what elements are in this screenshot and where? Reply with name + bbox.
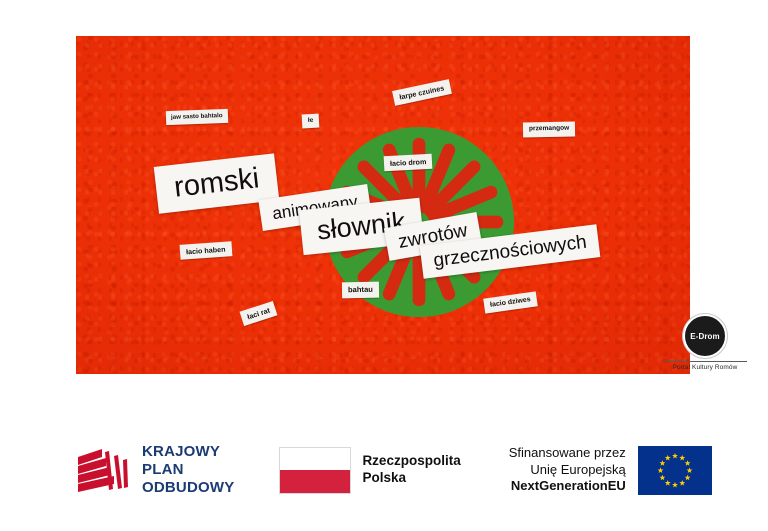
eu-line-2: Unię Europejską <box>509 462 626 479</box>
eu-line-1: Sfinansowane przez <box>509 445 626 462</box>
poland-flag-icon <box>279 447 351 494</box>
eu-flag-icon <box>638 446 712 495</box>
word-chip: jaw sasto bahtalo <box>166 109 228 125</box>
edrom-badge-icon: E-Drom <box>683 314 727 358</box>
eu-flag-stars <box>638 446 712 495</box>
eu-line-3: NextGenerationEU <box>509 478 626 495</box>
word-chip: łarpe czuines <box>392 79 451 106</box>
edrom-subtitle: Portal Kultury Romów <box>662 364 748 371</box>
poland-line-1: Rzeczpospolita <box>362 453 460 470</box>
word-chip: łacio haben <box>180 241 232 260</box>
poland-flag-red-band <box>280 470 350 493</box>
word-chip: łe <box>302 114 320 129</box>
poland-logo: Rzeczpospolita Polska <box>279 447 460 494</box>
eu-star <box>665 454 671 460</box>
poster-panel: jaw sasto bahtalołełarpe czuinesprzemang… <box>76 36 690 374</box>
word-chip: łaci rat <box>240 301 278 326</box>
eu-star <box>657 467 663 473</box>
kpo-line-3: ODBUDOWY <box>142 479 234 497</box>
eu-star <box>679 454 685 460</box>
kpo-wordmark: KRAJOWY PLAN ODBUDOWY <box>142 443 234 496</box>
eu-funding-text: Sfinansowane przez Unię Europejską NextG… <box>509 445 626 495</box>
poland-wordmark: Rzeczpospolita Polska <box>362 453 460 487</box>
kpo-building-icon <box>76 447 130 493</box>
poland-line-2: Polska <box>362 470 460 487</box>
eu-star <box>659 460 665 466</box>
eu-funding-logo: Sfinansowane przez Unię Europejską NextG… <box>509 445 712 495</box>
eu-star <box>684 460 690 466</box>
word-chip: przemangow <box>523 122 576 138</box>
eu-star <box>672 481 678 487</box>
kpo-logo: KRAJOWY PLAN ODBUDOWY <box>76 443 234 496</box>
edrom-divider <box>663 361 747 362</box>
funding-logo-bar: KRAJOWY PLAN ODBUDOWY Rzeczpospolita Pol… <box>0 420 768 520</box>
eu-star <box>665 479 671 485</box>
edrom-logo[interactable]: E-Drom Portal Kultury Romów <box>662 314 748 372</box>
eu-star <box>684 474 690 480</box>
eu-star <box>686 467 692 473</box>
word-chip: bahtau <box>342 282 379 298</box>
kpo-line-1: KRAJOWY <box>142 443 234 461</box>
poland-flag-white-band <box>280 448 350 471</box>
eu-star <box>659 474 665 480</box>
kpo-line-2: PLAN <box>142 461 234 479</box>
eu-star <box>679 479 685 485</box>
word-chip: łacio drom <box>384 154 433 172</box>
eu-star <box>672 452 678 458</box>
edrom-badge-label: E-Drom <box>690 332 720 341</box>
